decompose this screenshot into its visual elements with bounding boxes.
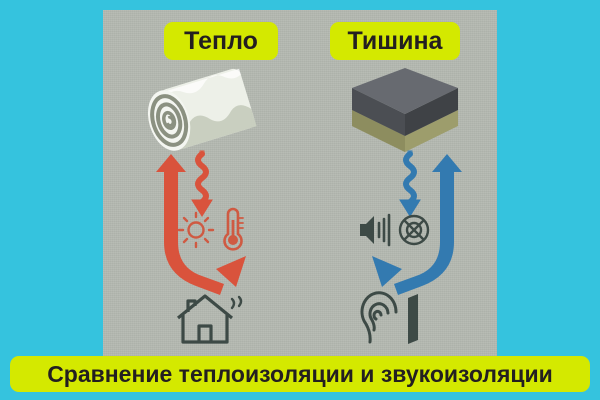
heat-source-icons (176, 206, 246, 254)
caption-bar: Сравнение теплоизоляции и звукоизоляции (10, 356, 590, 392)
thermometer-icon (225, 209, 244, 249)
infographic-root: Тепло Тишина (0, 0, 600, 400)
siren-icon (400, 216, 428, 244)
sound-source-icons (356, 206, 434, 254)
heat-escape-wisps (232, 297, 241, 308)
badge-silence: Тишина (330, 22, 460, 60)
wall-barrier-icon (408, 294, 418, 344)
badge-heat: Тепло (164, 22, 278, 60)
house-icon (172, 288, 248, 348)
sun-icon (179, 213, 213, 247)
acoustic-panel-block-icon (344, 62, 466, 160)
ear-icon (358, 288, 430, 348)
insulation-roll-icon (142, 62, 272, 160)
speaker-wave-icon (360, 215, 389, 245)
